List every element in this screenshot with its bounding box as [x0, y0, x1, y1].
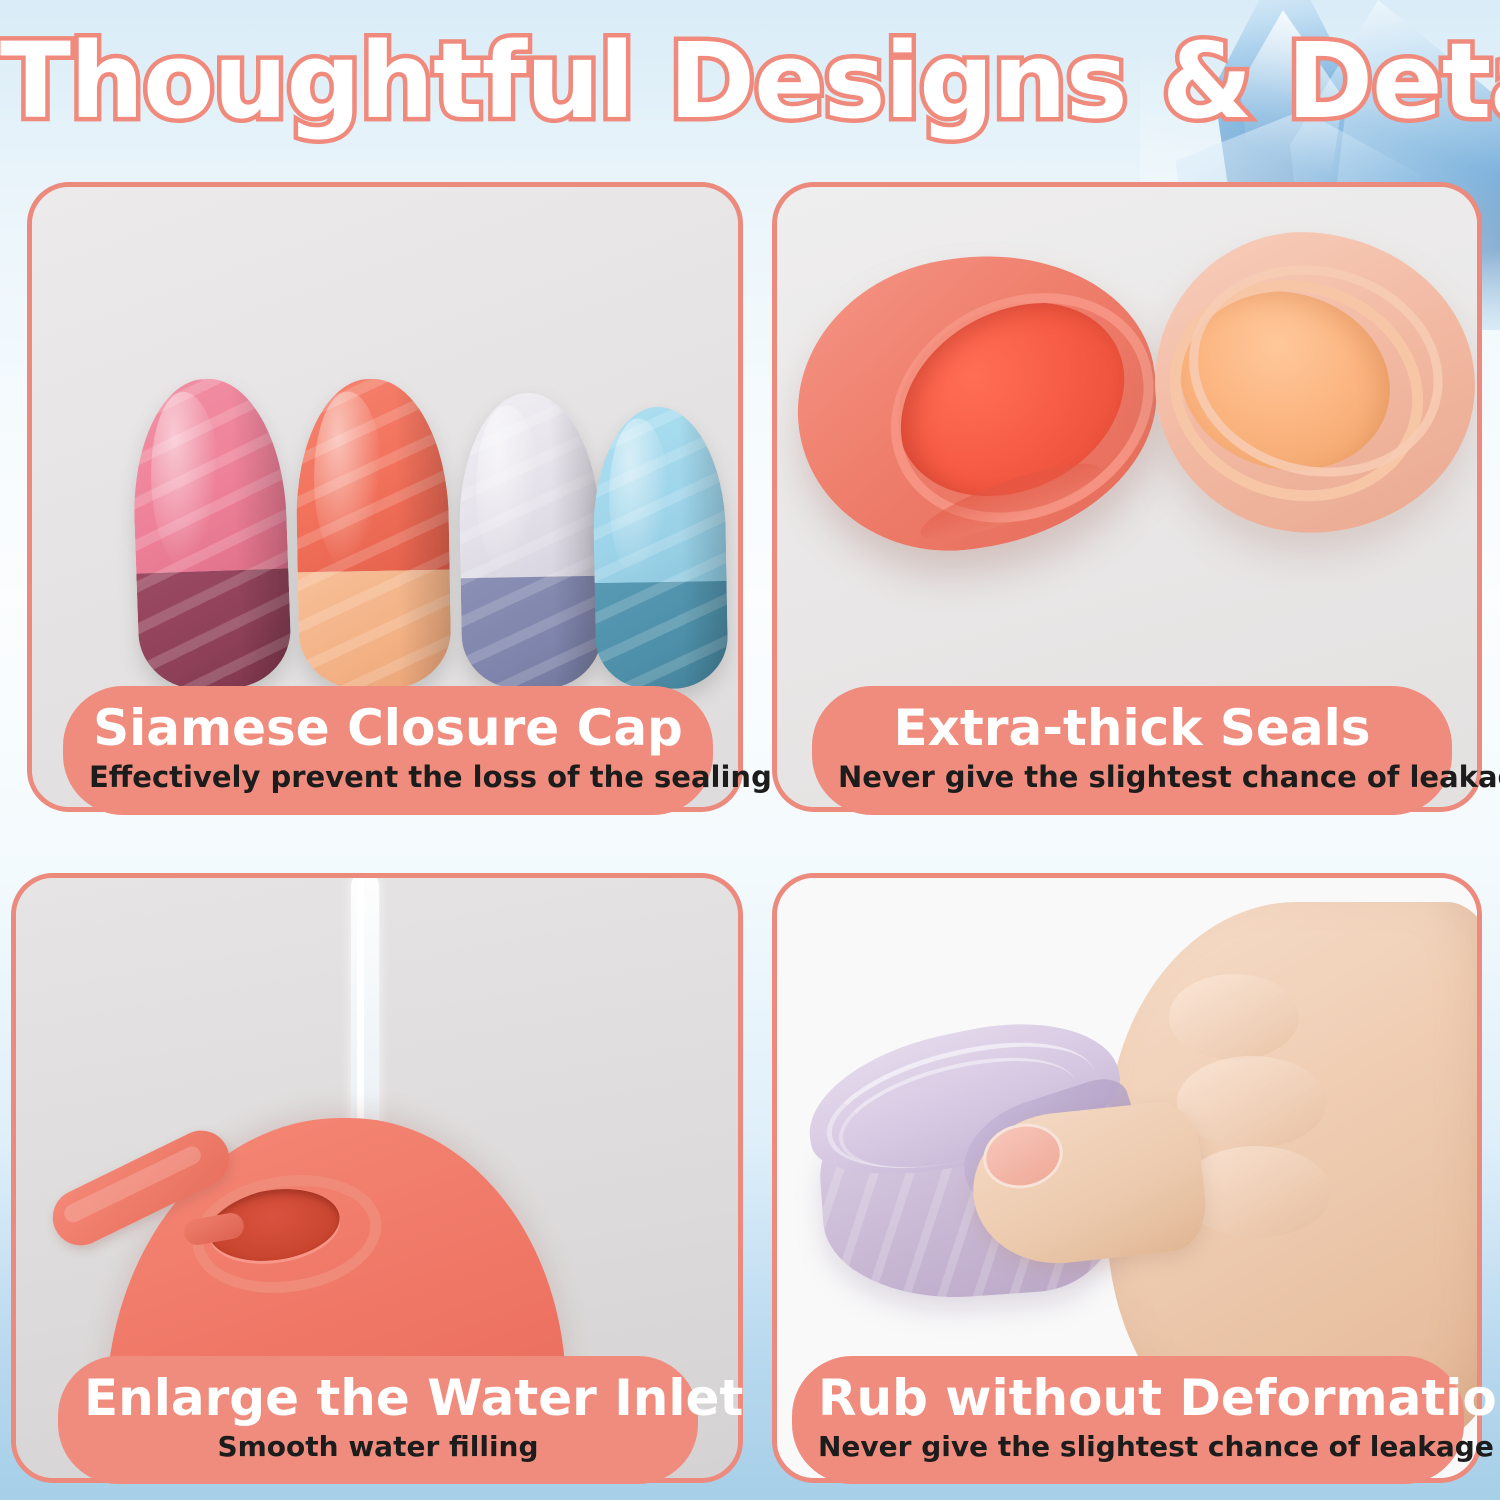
- bottle-peach-tipped: [1145, 222, 1482, 544]
- caption-subtitle: Effectively prevent the loss of the seal…: [89, 760, 687, 795]
- bottle-coral-tipped: [779, 233, 1176, 570]
- caption-title: Enlarge the Water Inlet: [84, 1370, 672, 1426]
- caption-subtitle: Smooth water filling: [84, 1430, 672, 1464]
- bottle-light-blue: [592, 406, 729, 690]
- bottle-coral: [294, 378, 451, 691]
- caption-title: Siamese Closure Cap: [89, 700, 687, 756]
- bottle-pink: [130, 376, 293, 691]
- caption-title: Extra-thick Seals: [838, 700, 1426, 756]
- caption-subtitle: Never give the slightest chance of leaka…: [818, 1430, 1438, 1464]
- caption-title: Rub without Deformation: [818, 1370, 1438, 1426]
- caption-extra-thick-seals: Extra-thick Seals Never give the slighte…: [812, 686, 1452, 815]
- infographic-poster: Thoughtful Designs & Details: [0, 0, 1500, 1500]
- caption-enlarge-water-inlet: Enlarge the Water Inlet Smooth water fil…: [58, 1356, 698, 1484]
- caption-rub-without-deformation: Rub without Deformation Never give the s…: [792, 1356, 1464, 1484]
- caption-subtitle: Never give the slightest chance of leaka…: [838, 760, 1426, 795]
- page-title: Thoughtful Designs & Details: [0, 22, 1500, 142]
- bottle-lilac-white: [457, 392, 602, 690]
- caption-siamese-closure-cap: Siamese Closure Cap Effectively prevent …: [63, 686, 713, 815]
